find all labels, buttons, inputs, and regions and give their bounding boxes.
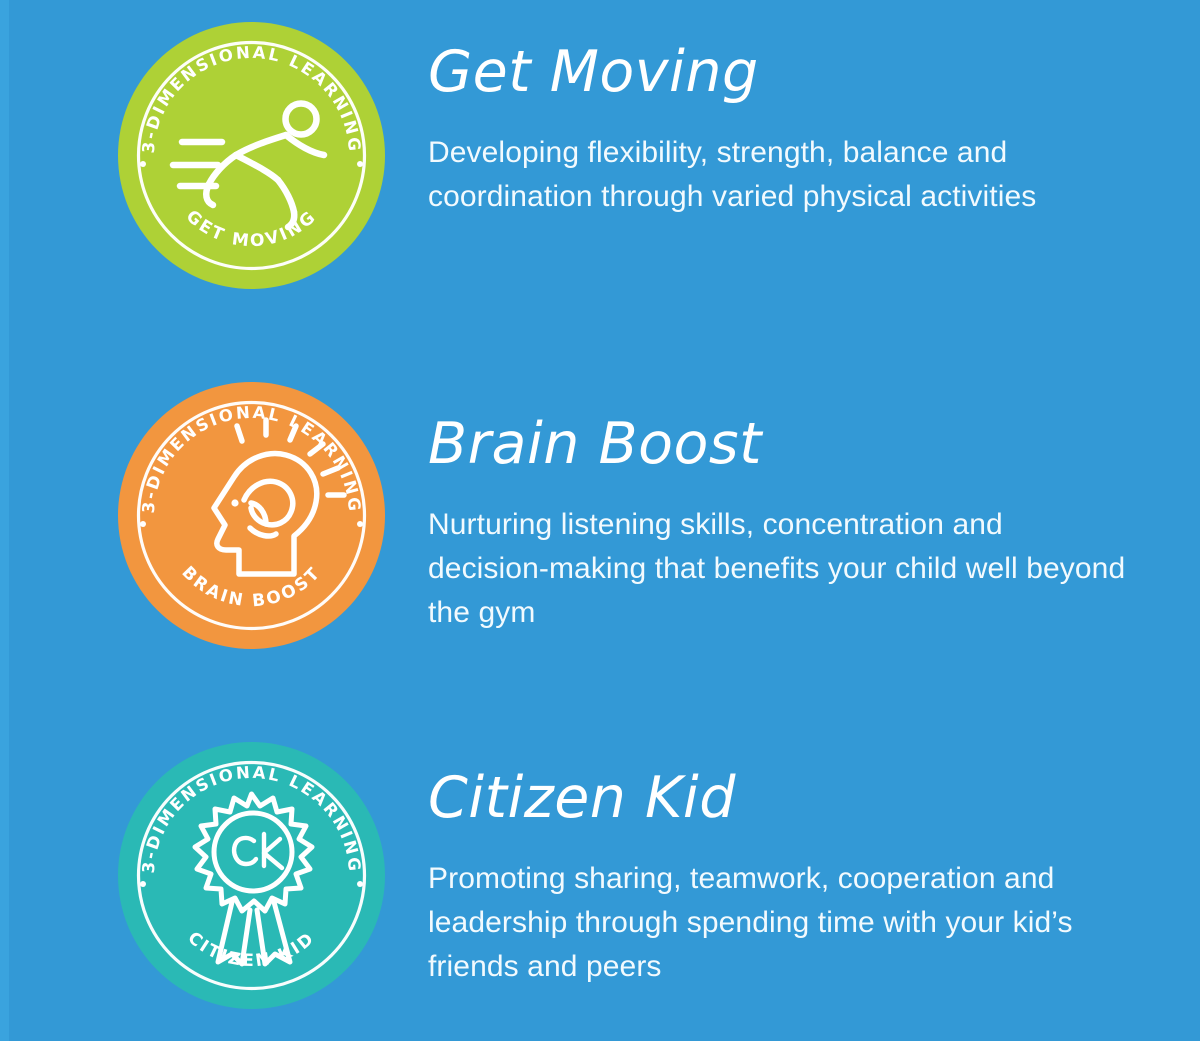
badge-citizen-kid[interactable]: 3-DIMENSIONAL LEARNING CITIZEN KID [118,742,385,1009]
pillar-heading: Brain Boost [428,416,1128,473]
pillar-heading: Citizen Kid [428,770,1128,827]
text-cell-brain-boost: Brain Boost Nurturing listening skills, … [385,382,1128,635]
pillar-row-brain-boost: 3-DIMENSIONAL LEARNING BRAIN BOOST [0,382,1200,742]
rosette-monogram [234,834,282,868]
badge-cell-citizen-kid: 3-DIMENSIONAL LEARNING CITIZEN KID [0,742,385,1009]
pillar-row-citizen-kid: 3-DIMENSIONAL LEARNING CITIZEN KID [0,742,1200,1041]
badge-arc-top-text: 3-DIMENSIONAL LEARNING [139,763,364,874]
text-cell-citizen-kid: Citizen Kid Promoting sharing, teamwork,… [385,742,1128,989]
badge-cell-get-moving: 3-DIMENSIONAL LEARNING GET MOVING [0,22,385,289]
pillar-description: Promoting sharing, teamwork, cooperation… [428,857,1128,989]
badge-arc-bottom-text: CITIZEN KID [184,928,320,971]
badge-brain-boost[interactable]: 3-DIMENSIONAL LEARNING BRAIN BOOST [118,382,385,649]
badge-dot-left [140,161,146,167]
head-brain-icon [214,420,344,574]
pillars-page: 3-DIMENSIONAL LEARNING GET MOVING [0,0,1200,1041]
badge-cell-brain-boost: 3-DIMENSIONAL LEARNING BRAIN BOOST [0,382,385,649]
pillar-heading: Get Moving [428,44,1128,101]
badge-dot-right [357,881,363,887]
pillar-rows: 3-DIMENSIONAL LEARNING GET MOVING [0,0,1200,1041]
badge-dot-left [140,881,146,887]
pillar-description: Nurturing listening skills, concentratio… [428,503,1128,635]
text-cell-get-moving: Get Moving Developing flexibility, stren… [385,22,1128,219]
badge-dot-right [357,521,363,527]
badge-dot-left [140,521,146,527]
badge-dot-right [357,161,363,167]
badge-arc-top-text: 3-DIMENSIONAL LEARNING [139,43,364,154]
pillar-row-get-moving: 3-DIMENSIONAL LEARNING GET MOVING [0,22,1200,382]
pillar-description: Developing flexibility, strength, balanc… [428,131,1128,219]
badge-arc-bottom-text: GET MOVING [182,206,321,251]
badge-arc-bottom-text: BRAIN BOOST [178,563,326,612]
badge-get-moving[interactable]: 3-DIMENSIONAL LEARNING GET MOVING [118,22,385,289]
